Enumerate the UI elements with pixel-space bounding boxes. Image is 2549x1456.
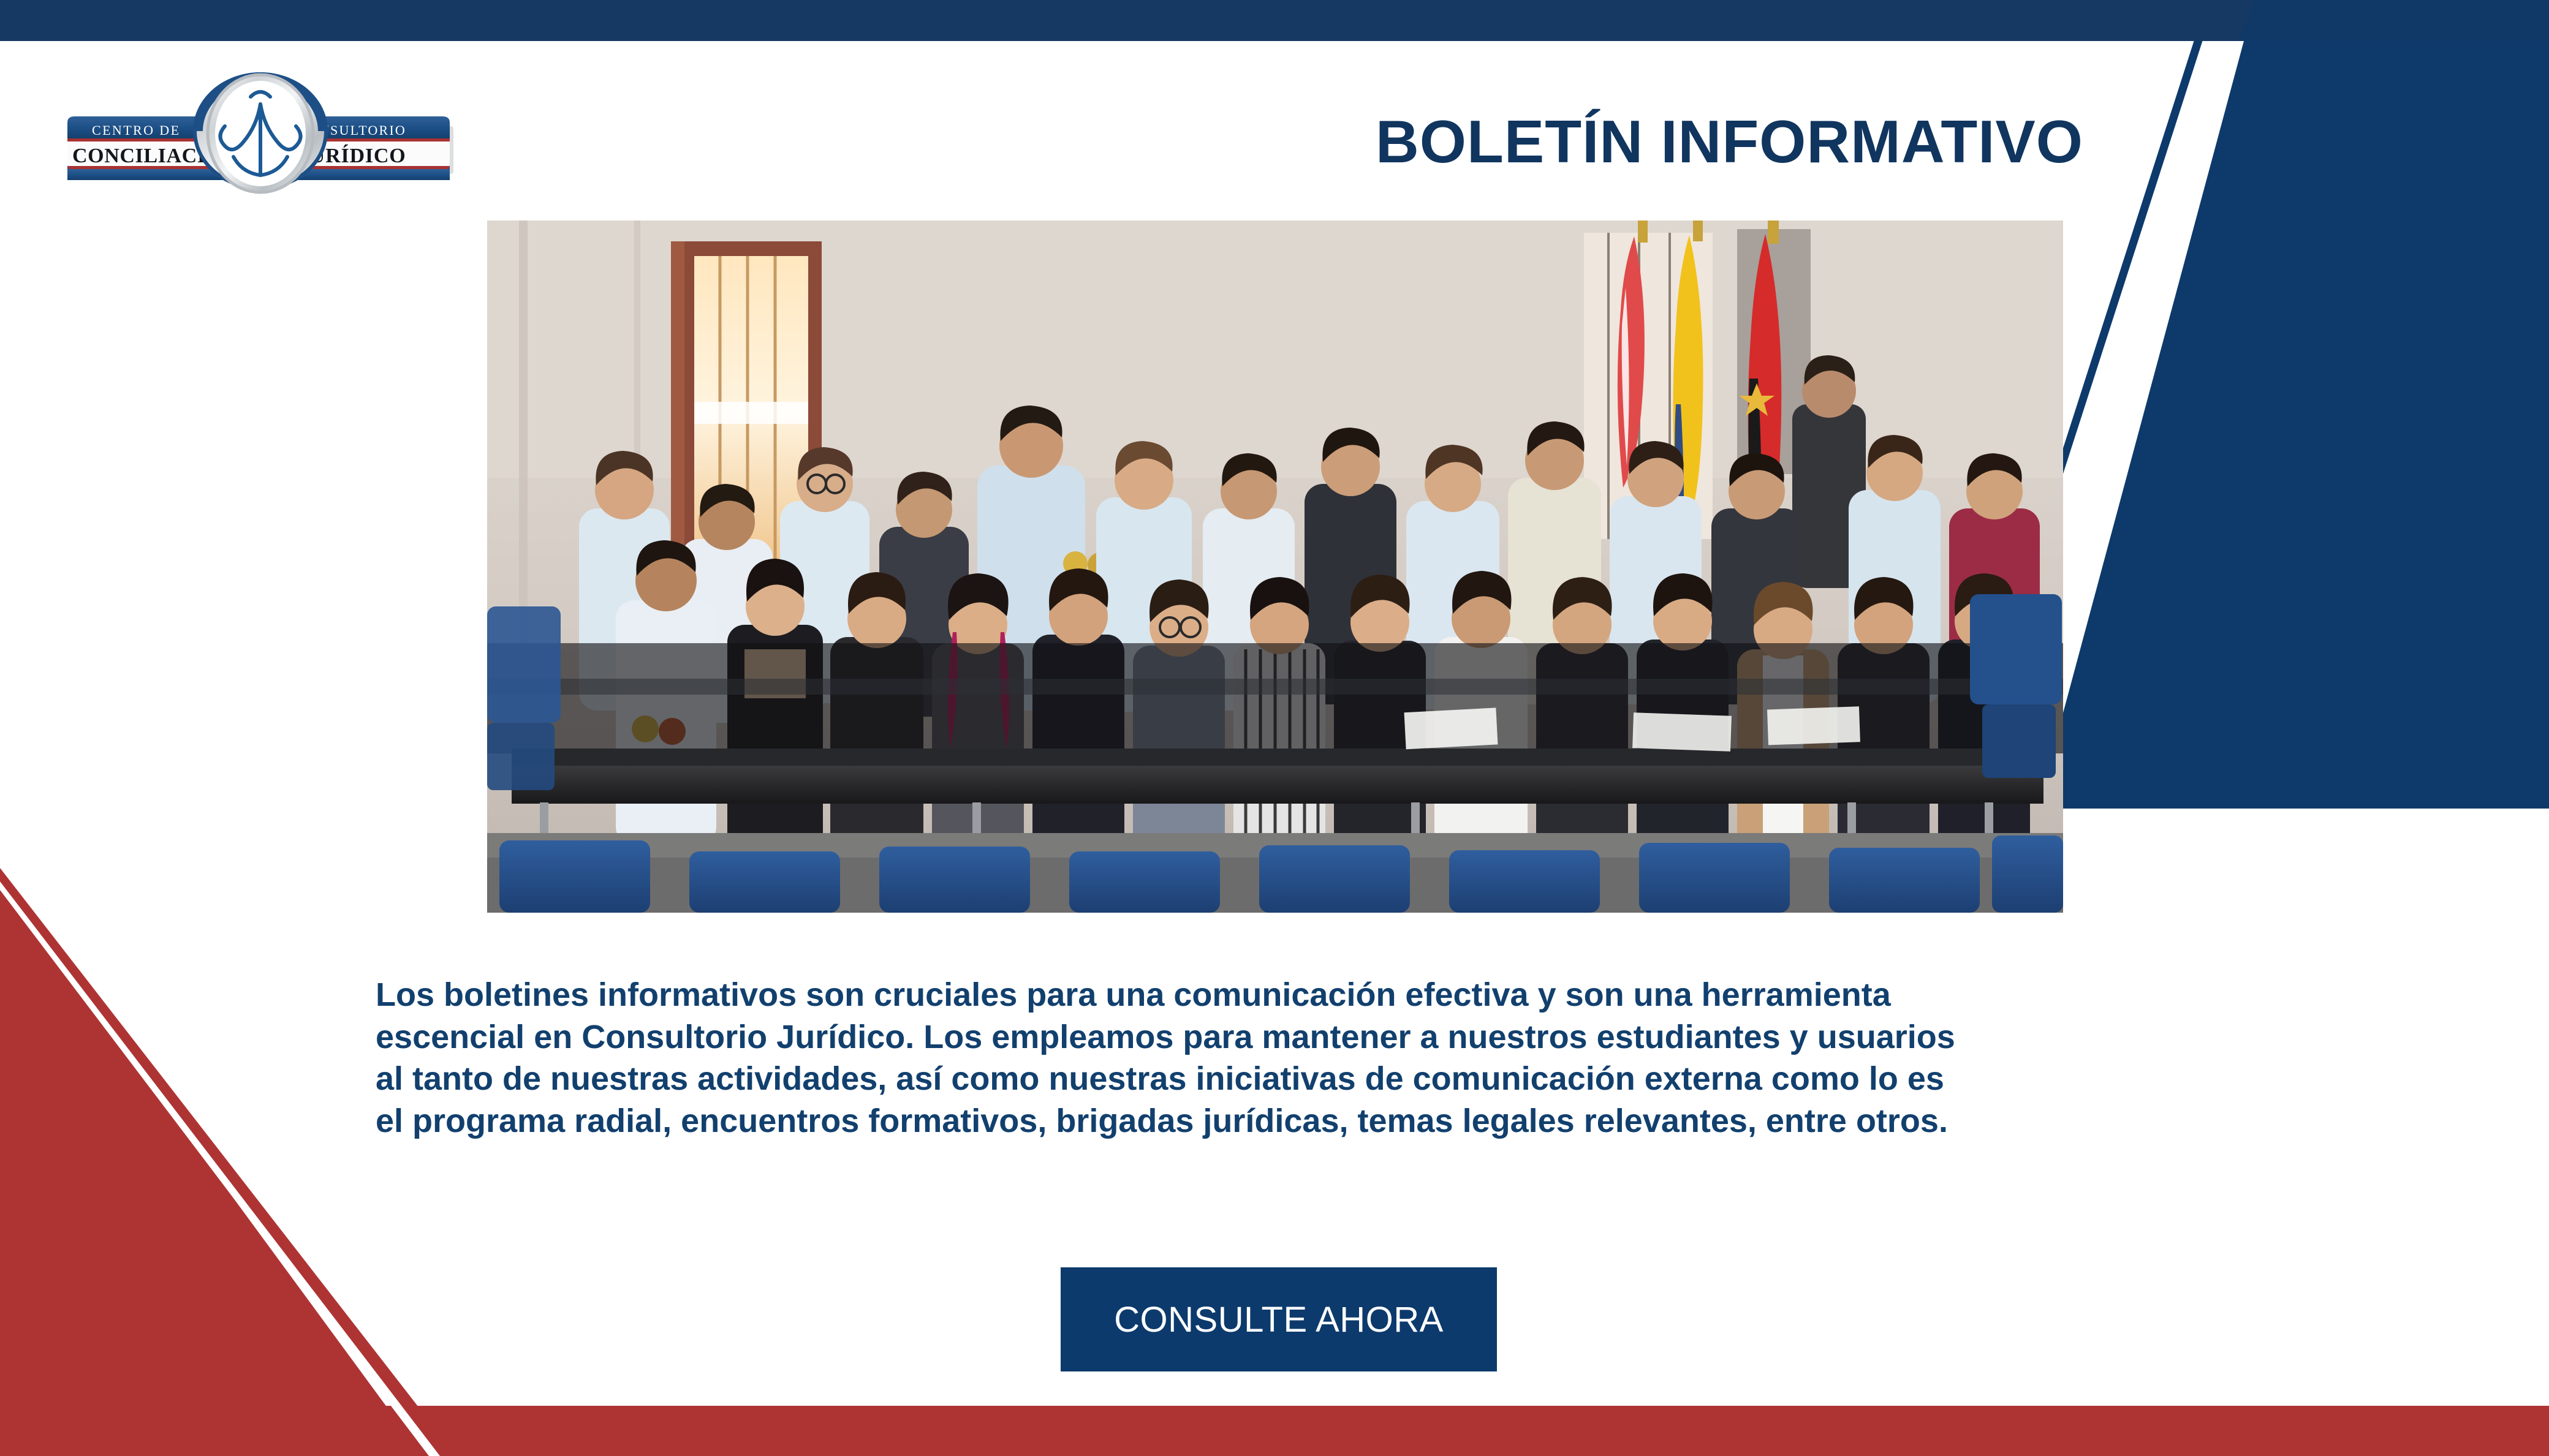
consulte-ahora-button[interactable]: CONSULTE AHORA xyxy=(1061,1267,1497,1371)
body-line-4: el programa radial, encuentros formativo… xyxy=(376,1100,2205,1142)
top-navy-bar xyxy=(0,0,2549,41)
slide-canvas: CENTRO DE CONSULTORIO CONCILIACIÓN JURÍD… xyxy=(0,0,2549,1456)
body-line-2: escencial en Consultorio Jurídico. Los e… xyxy=(376,1016,2205,1058)
body-line-1: Los boletines informativos son cruciales… xyxy=(376,974,2205,1016)
body-paragraph: Los boletines informativos son cruciales… xyxy=(376,974,2205,1142)
body-line-3: al tanto de nuestras actividades, así co… xyxy=(376,1058,2205,1100)
group-photo xyxy=(487,221,2063,913)
institution-logo: CENTRO DE CONSULTORIO CONCILIACIÓN JURÍD… xyxy=(49,59,472,200)
logo-left-top-text: CENTRO DE xyxy=(92,123,180,138)
page-title: BOLETÍN INFORMATIVO xyxy=(858,107,2083,176)
